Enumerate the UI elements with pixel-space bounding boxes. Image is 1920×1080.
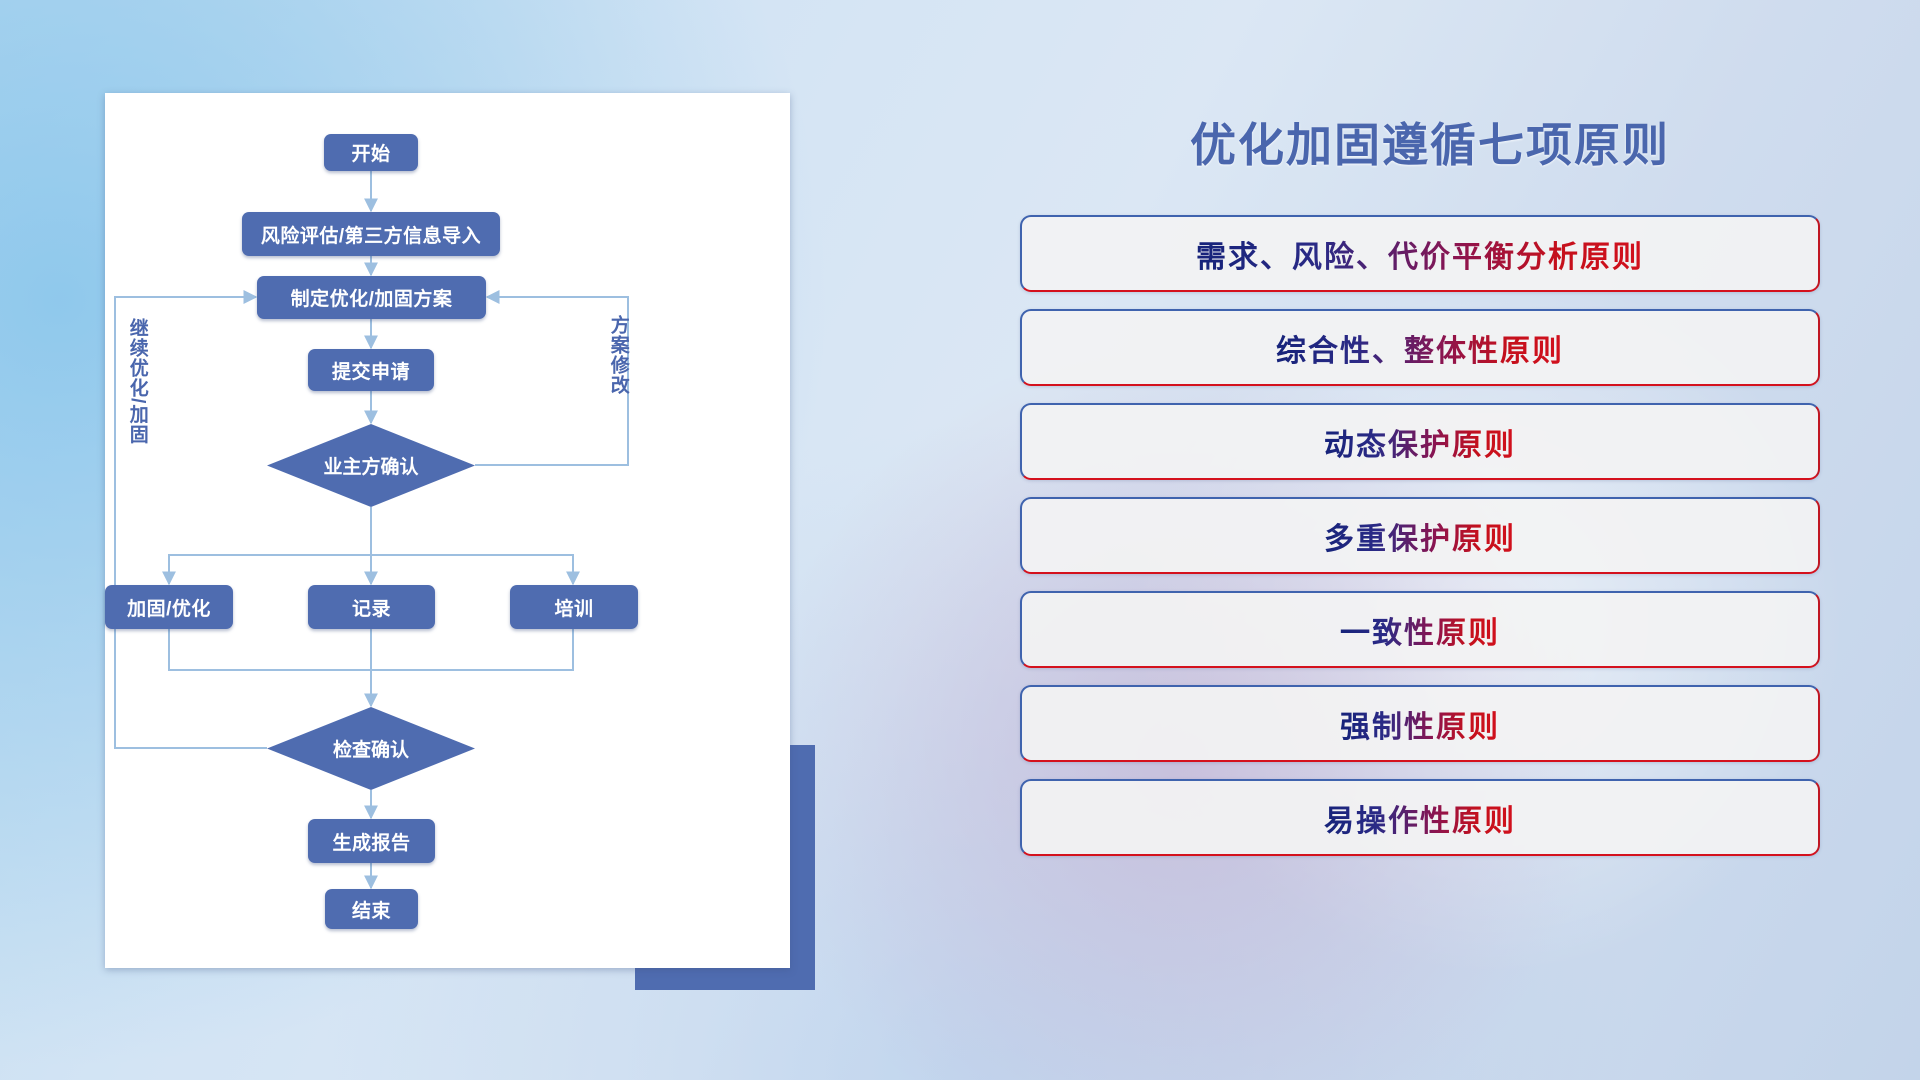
flowchart-panel: 开始 风险评估/第三方信息导入 制定优化/加固方案 提交申请 业主方确认 加固/… [105,93,790,968]
flow-node-reinforce-optimize[interactable]: 加固/优化 [105,585,233,629]
principles-card-list: 需求、风险、代价平衡分析原则 综合性、整体性原则 动态保护原则 多重保护原则 一… [1020,215,1820,873]
flow-node-training-label: 培训 [554,594,593,621]
principle-card[interactable]: 多重保护原则 [1020,497,1820,574]
flow-node-record[interactable]: 记录 [308,585,435,629]
principle-card[interactable]: 动态保护原则 [1020,403,1820,480]
flow-decision-check-confirm[interactable]: 检查确认 [267,707,475,790]
flow-decision-owner-confirm-label: 业主方确认 [267,424,475,507]
flow-edge-label-right-loop: 方案修改 [608,315,628,395]
principle-card[interactable]: 强制性原则 [1020,685,1820,762]
flow-node-submit-application-label: 提交申请 [332,357,410,384]
flow-node-generate-report-label: 生成报告 [332,828,410,855]
principles-pane: 优化加固遵循七项原则 需求、风险、代价平衡分析原则 综合性、整体性原则 动态保护… [1020,95,1840,995]
principle-card[interactable]: 易操作性原则 [1020,779,1820,856]
flow-node-reinforce-optimize-label: 加固/优化 [127,594,211,621]
flow-decision-owner-confirm[interactable]: 业主方确认 [267,424,475,507]
flow-node-start[interactable]: 开始 [324,134,418,171]
flow-node-end[interactable]: 结束 [325,889,418,929]
principle-card[interactable]: 综合性、整体性原则 [1020,309,1820,386]
principle-card-label: 一致性原则 [1340,608,1500,652]
flow-decision-check-confirm-label: 检查确认 [267,707,475,790]
flow-node-end-label: 结束 [352,896,391,923]
flow-node-submit-application[interactable]: 提交申请 [308,349,434,391]
principle-card-label: 多重保护原则 [1324,514,1516,558]
page-title: 优化加固遵循七项原则 [1020,109,1840,175]
flow-node-start-label: 开始 [351,139,390,166]
flow-node-make-plan-label: 制定优化/加固方案 [291,284,453,311]
flow-node-record-label: 记录 [352,594,391,621]
flow-node-make-plan[interactable]: 制定优化/加固方案 [257,276,486,319]
principle-card-label: 动态保护原则 [1324,420,1516,464]
principle-card[interactable]: 需求、风险、代价平衡分析原则 [1020,215,1820,292]
principle-card-label: 需求、风险、代价平衡分析原则 [1196,232,1644,276]
flow-node-risk-assessment-label: 风险评估/第三方信息导入 [261,221,481,248]
principle-card-label: 强制性原则 [1340,702,1500,746]
principle-card[interactable]: 一致性原则 [1020,591,1820,668]
principle-card-label: 综合性、整体性原则 [1276,326,1564,370]
flow-node-training[interactable]: 培训 [510,585,638,629]
principle-card-label: 易操作性原则 [1324,796,1516,840]
flow-node-generate-report[interactable]: 生成报告 [308,819,435,863]
flow-edge-label-left-loop: 继续优化/加固 [127,318,147,444]
slide-canvas: 开始 风险评估/第三方信息导入 制定优化/加固方案 提交申请 业主方确认 加固/… [0,0,1920,1080]
flow-node-risk-assessment[interactable]: 风险评估/第三方信息导入 [242,212,500,256]
